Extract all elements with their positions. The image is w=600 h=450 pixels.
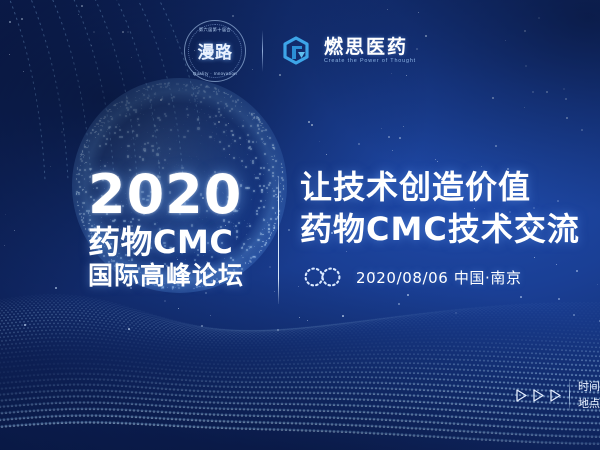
event-date-location: 2020/08/06 中国·南京 xyxy=(356,267,522,288)
badge-arc-bottom-text: Quality · Innovation xyxy=(184,71,246,76)
manlu-circular-badge: 第六届第十届会 漫路 Quality · Innovation xyxy=(184,20,246,82)
event-title-block: 2020 药物CMC 国际高峰论坛 xyxy=(0,168,278,290)
slogan-line1: 让技术创造价值 xyxy=(300,168,580,206)
banner-main: 2020 药物CMC 国际高峰论坛 让技术创造价值 药物CMC技术交流 2020… xyxy=(0,168,600,290)
footer-divider xyxy=(569,378,570,412)
event-title-line2: 药物CMC xyxy=(88,224,278,260)
header-divider xyxy=(262,30,263,72)
badge-arc-top-text: 第六届第十届会 xyxy=(184,27,246,33)
cube-arrow-logo-icon xyxy=(279,33,315,69)
footer-line-2: 地点 xyxy=(578,397,600,410)
event-meta-row: 2020/08/06 中国·南京 xyxy=(300,266,580,288)
infinity-dots-icon xyxy=(300,266,346,288)
badge-word: 漫路 xyxy=(184,38,246,63)
brand-lockup: 燃思医药 Create the Power of Thought xyxy=(279,33,416,69)
brand-tagline-en: Create the Power of Thought xyxy=(324,58,416,65)
triple-play-arrow-icon xyxy=(516,389,561,402)
event-year: 2020 xyxy=(88,168,278,222)
banner-footer: 时间 地点 xyxy=(516,378,600,412)
slogan-line2: 药物CMC技术交流 xyxy=(300,210,580,248)
conference-banner: 第六届第十届会 漫路 Quality · Innovation 燃思医药 Cre… xyxy=(0,0,600,450)
event-title-line3: 国际高峰论坛 xyxy=(88,261,278,290)
banner-header: 第六届第十届会 漫路 Quality · Innovation 燃思医药 Cre… xyxy=(0,20,600,82)
event-slogan-block: 让技术创造价值 药物CMC技术交流 2020/08/06 中国·南京 xyxy=(278,168,580,288)
footer-line-1: 时间 xyxy=(578,380,600,393)
brand-name-cn: 燃思医药 xyxy=(324,37,416,57)
main-vertical-divider xyxy=(278,176,279,304)
